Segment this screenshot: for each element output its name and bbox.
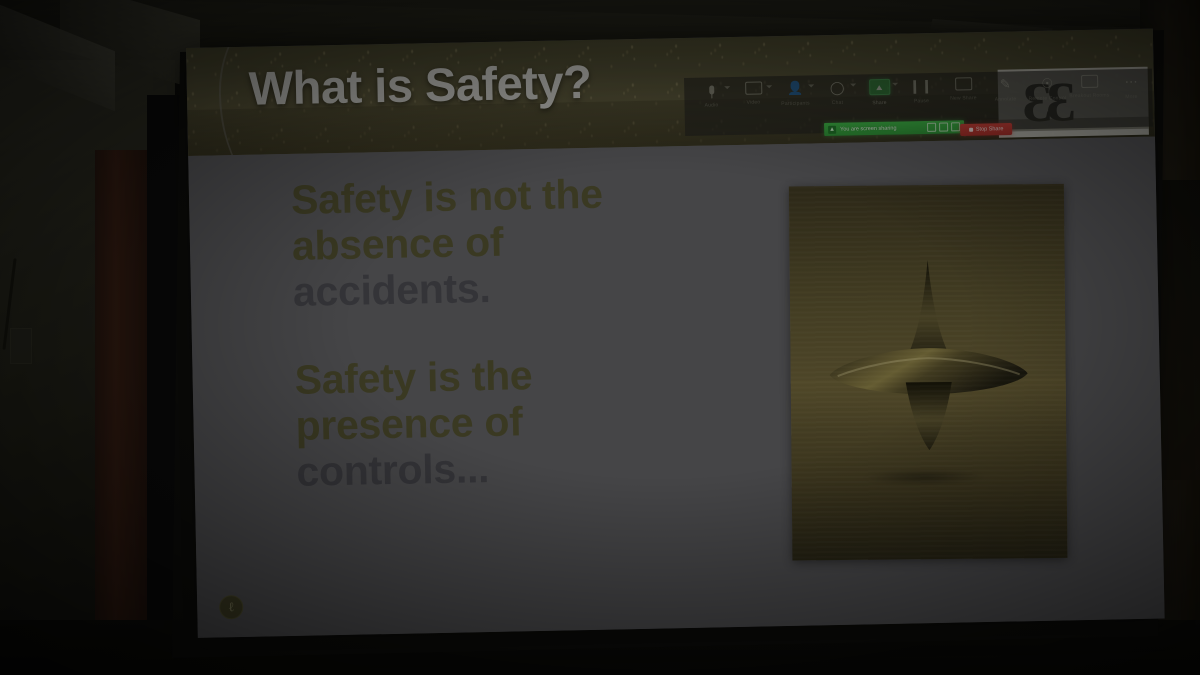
- chevron-down-icon[interactable]: [808, 84, 814, 87]
- zoom-remote-control-label: Remote Control: [1029, 95, 1067, 102]
- pause-icon: ❙❙: [913, 78, 930, 93]
- chevron-down-icon[interactable]: [892, 83, 898, 86]
- remote-control-icon: ☉: [1039, 76, 1056, 91]
- chevron-down-icon[interactable]: [766, 85, 772, 88]
- zoom-participants-button[interactable]: 👤 Participants: [774, 75, 817, 133]
- zoom-audio-button[interactable]: Audio: [690, 77, 733, 135]
- paragraph-two-line-2: presence of: [295, 396, 686, 450]
- screen-share-indicator-icon: ▲: [828, 125, 836, 133]
- screen-sharing-text: You are screen sharing: [840, 125, 923, 133]
- zoom-breakout-rooms-button[interactable]: Breakout Rooms: [1068, 69, 1111, 127]
- paragraph-two-line-1: Safety is the: [294, 350, 685, 404]
- slide-title: What is Safety?: [248, 54, 591, 116]
- participants-icon: 👤: [787, 81, 804, 96]
- slide-corner-badge: ℓ: [219, 595, 243, 619]
- more-ellipsis-icon: ⋯: [1123, 74, 1140, 89]
- spinning-top-photo: [789, 184, 1068, 561]
- zoom-video-label: Video: [747, 99, 761, 105]
- new-share-icon: [955, 77, 972, 90]
- chat-bubble-icon: ◯: [829, 80, 846, 95]
- banner-mute-icon[interactable]: [927, 123, 936, 132]
- wall-outlet-plate: [10, 328, 32, 364]
- zoom-breakout-rooms-label: Breakout Rooms: [1069, 92, 1109, 99]
- pen-annotate-icon: ✎: [997, 76, 1014, 91]
- chevron-down-icon[interactable]: [850, 84, 856, 87]
- zoom-remote-control-button[interactable]: ☉ Remote Control: [1026, 70, 1069, 128]
- paragraph-two-line-3: controls...: [296, 442, 687, 496]
- screenshot-stage: What is Safety? ƐƐ Safety is not the abs…: [0, 0, 1200, 675]
- zoom-audio-label: Audio: [705, 102, 719, 108]
- banner-expand-icon[interactable]: [951, 122, 960, 131]
- zoom-more-button[interactable]: ⋯ More: [1110, 69, 1153, 127]
- zoom-video-button[interactable]: Video: [732, 76, 775, 134]
- paragraph-one: Safety is not the absence of accidents.: [291, 170, 684, 316]
- zoom-pause-label: Pause: [914, 98, 929, 104]
- camera-icon: [745, 81, 762, 94]
- microphone-icon: [703, 82, 720, 97]
- door-frame: [95, 150, 147, 675]
- zoom-more-label: More: [1125, 94, 1137, 100]
- zoom-annotate-label: Annotate: [995, 96, 1017, 102]
- paragraph-two: Safety is the presence of controls...: [294, 350, 687, 496]
- zoom-share-label: Share: [872, 100, 886, 106]
- breakout-rooms-icon: [1081, 75, 1098, 88]
- zoom-participants-label: Participants: [781, 100, 810, 107]
- paragraph-one-line-2: absence of: [292, 216, 683, 270]
- stop-square-icon: [969, 128, 973, 132]
- stop-share-label: Stop Share: [976, 126, 1004, 133]
- slide-text-block: Safety is not the absence of accidents. …: [291, 170, 687, 495]
- zoom-new-share-label: New Share: [950, 95, 977, 102]
- stop-share-button[interactable]: Stop Share: [960, 123, 1012, 136]
- paragraph-one-line-1: Safety is not the: [291, 170, 682, 224]
- banner-video-icon[interactable]: [939, 123, 948, 132]
- zoom-annotate-button[interactable]: ✎ Annotate: [984, 71, 1027, 129]
- chevron-down-icon[interactable]: [724, 86, 730, 89]
- share-screen-icon: [869, 79, 890, 95]
- slide-body: Safety is not the absence of accidents. …: [188, 137, 1164, 638]
- paragraph-one-line-3: accidents.: [292, 262, 683, 316]
- banner-controls[interactable]: [927, 122, 960, 132]
- zoom-chat-label: Chat: [832, 100, 843, 106]
- photo-grain: [789, 184, 1068, 561]
